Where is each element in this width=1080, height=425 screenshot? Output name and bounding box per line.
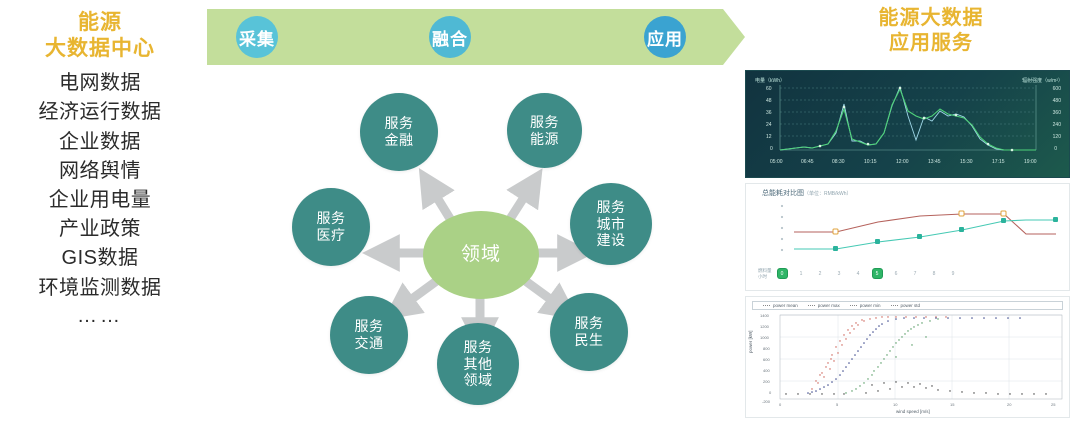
- hour-option-7[interactable]: 7: [911, 269, 920, 278]
- hour-option-3[interactable]: 3: [835, 269, 844, 278]
- hub-node-city-construction: 服务城市建设: [570, 183, 652, 265]
- left-title-line2: 大数据中心: [0, 36, 200, 62]
- hour-option-8[interactable]: 8: [930, 269, 939, 278]
- stage-badge-fusion: 融合: [429, 16, 471, 58]
- list-ellipsis: ……: [0, 303, 200, 328]
- hour-option-0[interactable]: 0: [778, 269, 787, 278]
- list-item: 经济运行数据: [0, 98, 200, 127]
- hub-node-transport: 服务交通: [330, 296, 408, 374]
- hub-spoke-diagram: 领域 服务金融 服务能源 服务城市建设 服务民生 服务其他领域 服务交通 服务医…: [285, 78, 675, 423]
- hub-node-energy: 服务能源: [507, 93, 582, 168]
- hub-node-livelihood: 服务民生: [550, 293, 628, 371]
- chart-power-radiation: 电量（kWh） 辐射强度（w/m²） 60 48 36 24 12 0 600 …: [745, 70, 1070, 178]
- left-title-line1: 能源: [0, 10, 200, 36]
- right-title-line2: 应用服务: [800, 31, 1062, 56]
- hub-node-label: 服务能源: [530, 114, 559, 147]
- list-item: 企业用电量: [0, 186, 200, 215]
- chart-plot-area: [746, 71, 1070, 178]
- hour-selector-label-line2: 小时: [758, 274, 772, 280]
- list-item: 环境监测数据: [0, 274, 200, 303]
- hour-option-1[interactable]: 1: [797, 269, 806, 278]
- list-item: 企业数据: [0, 128, 200, 157]
- hour-selector[interactable]: 燃料量 小时 0 1 2 3 4 5 6 7 8 9: [758, 268, 968, 279]
- hub-node-label: 服务城市建设: [597, 199, 626, 249]
- hour-option-4[interactable]: 4: [854, 269, 863, 278]
- hour-option-6[interactable]: 6: [892, 269, 901, 278]
- hub-node-label: 服务其他领域: [464, 339, 493, 389]
- left-data-column: 能源 大数据中心 电网数据 经济运行数据 企业数据 网络舆情 企业用电量 产业政…: [0, 0, 200, 425]
- hour-selector-label-line1: 燃料量: [758, 268, 772, 274]
- hub-node-other-fields: 服务其他领域: [437, 323, 519, 405]
- hub-node-label: 服务交通: [355, 318, 384, 351]
- hour-option-9[interactable]: 9: [949, 269, 958, 278]
- hub-node-medical: 服务医疗: [292, 188, 370, 266]
- stage-badge-collect: 采集: [236, 16, 278, 58]
- list-item: 电网数据: [0, 69, 200, 98]
- list-item: GIS数据: [0, 244, 200, 273]
- left-column-title: 能源 大数据中心: [0, 0, 200, 61]
- stage-badge-application: 应用: [644, 16, 686, 58]
- hub-node-label: 服务民生: [575, 315, 604, 348]
- process-arrow-banner: 采集 融合 应用: [207, 9, 745, 65]
- list-item: 产业政策: [0, 215, 200, 244]
- hour-option-2[interactable]: 2: [816, 269, 825, 278]
- hub-node-label: 服务金融: [385, 115, 414, 148]
- scatter-plot-area: [746, 297, 1070, 418]
- left-data-list: 电网数据 经济运行数据 企业数据 网络舆情 企业用电量 产业政策 GIS数据 环…: [0, 69, 200, 328]
- hour-option-5[interactable]: 5: [873, 269, 882, 278]
- right-title-line1: 能源大数据: [800, 6, 1062, 31]
- hub-center-node: 领域: [423, 211, 539, 299]
- chart-power-curve-scatter: power mean power max power min power std…: [745, 296, 1070, 418]
- list-item: 网络舆情: [0, 157, 200, 186]
- hub-node-finance: 服务金融: [360, 93, 438, 171]
- hub-node-label: 服务医疗: [317, 210, 346, 243]
- slide-root: 能源 大数据中心 电网数据 经济运行数据 企业数据 网络舆情 企业用电量 产业政…: [0, 0, 1080, 425]
- chart-total-energy-comparison: 总能耗对比图（单位：RMB/kWh）: [745, 183, 1070, 291]
- hub-center-label: 领域: [461, 244, 501, 266]
- right-column-title: 能源大数据 应用服务: [800, 6, 1062, 56]
- dashboard-screenshots: 电量（kWh） 辐射强度（w/m²） 60 48 36 24 12 0 600 …: [745, 70, 1070, 418]
- hour-selector-label: 燃料量 小时: [758, 268, 772, 279]
